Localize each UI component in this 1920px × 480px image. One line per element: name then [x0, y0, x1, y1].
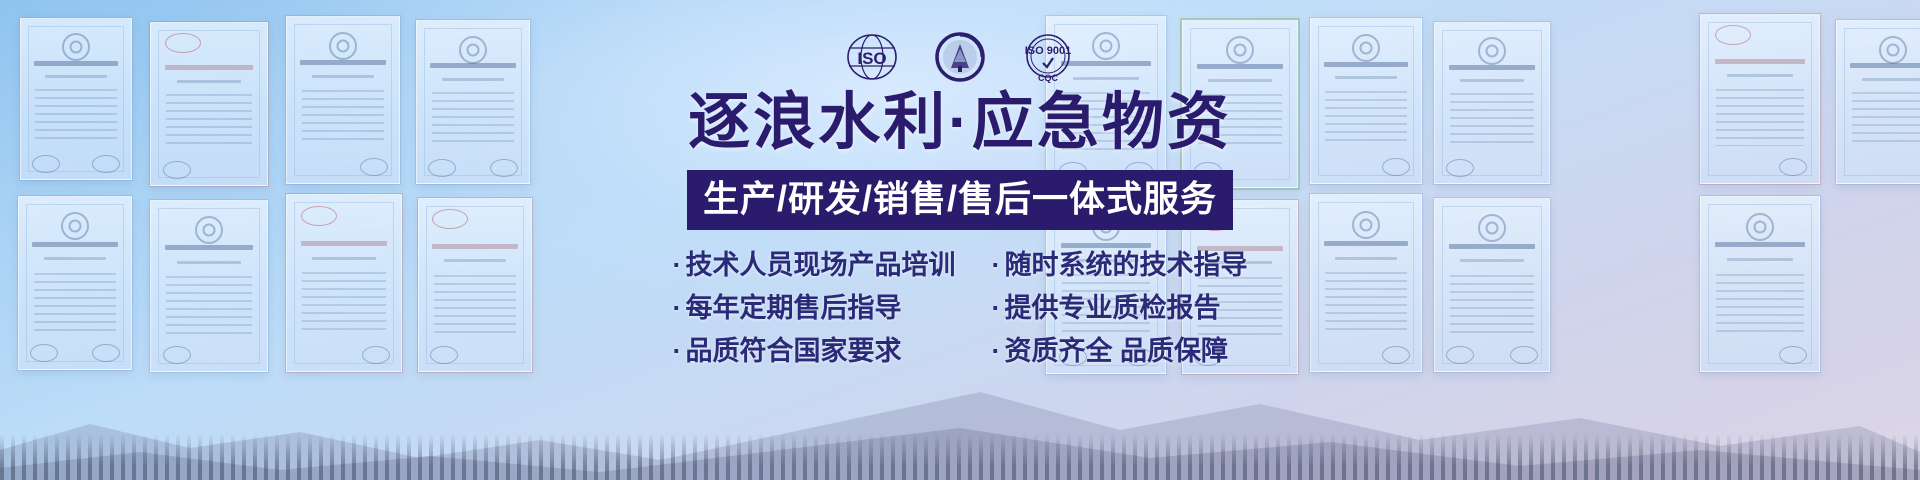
service-subtitle-bar: 生产/研发/销售/售后一体式服务: [687, 170, 1233, 230]
bullet-dot: ·: [992, 250, 1001, 280]
iso9001-cqc-icon: ISO 9001 CQC: [1021, 30, 1075, 84]
list-item-label: 随时系统的技术指导: [1005, 250, 1248, 280]
cqc-label: CQC: [1038, 73, 1059, 83]
bullet-dot: ·: [673, 293, 682, 323]
certification-badges: ISO ISO 9001 CQC: [0, 28, 1920, 86]
bullet-dot: ·: [673, 250, 682, 280]
bullet-dot: ·: [673, 336, 682, 366]
iso-globe-label: ISO: [857, 49, 886, 68]
page-title: 逐浪水利·应急物资: [688, 92, 1232, 154]
list-item-label: 资质齐全 品质保障: [1005, 336, 1229, 366]
list-item: ·随时系统的技术指导: [982, 252, 1248, 279]
banner-content: 逐浪水利·应急物资 生产/研发/销售/售后一体式服务 ·技术人员现场产品培训 ·…: [0, 92, 1920, 365]
tree-line: [0, 434, 1920, 480]
iso9001-label-top: ISO 9001: [1025, 45, 1071, 57]
list-item-label: 品质符合国家要求: [686, 336, 902, 366]
bullet-dot: ·: [992, 336, 1001, 366]
iso9001-cqc-badge: ISO 9001 CQC: [1021, 30, 1075, 84]
promo-banner: ISO ISO 9001 CQC 逐浪水利·应急物: [0, 0, 1920, 480]
iso14000-seal-badge: [933, 30, 987, 84]
list-item-label: 每年定期售后指导: [686, 293, 902, 323]
iso14000-seal-icon: [933, 30, 987, 84]
list-item: ·每年定期售后指导: [673, 295, 956, 322]
iso-globe-icon: ISO: [845, 30, 899, 84]
list-item-label: 提供专业质检报告: [1005, 293, 1221, 323]
iso-globe-badge: ISO: [845, 30, 899, 84]
list-item: ·提供专业质检报告: [982, 295, 1248, 322]
list-item: ·资质齐全 品质保障: [982, 338, 1248, 365]
feature-list: ·技术人员现场产品培训 ·随时系统的技术指导 ·每年定期售后指导 ·提供专业质检…: [673, 252, 1248, 365]
list-item: ·技术人员现场产品培训: [673, 252, 956, 279]
bullet-dot: ·: [992, 293, 1001, 323]
list-item-label: 技术人员现场产品培训: [686, 250, 956, 280]
list-item: ·品质符合国家要求: [673, 338, 956, 365]
